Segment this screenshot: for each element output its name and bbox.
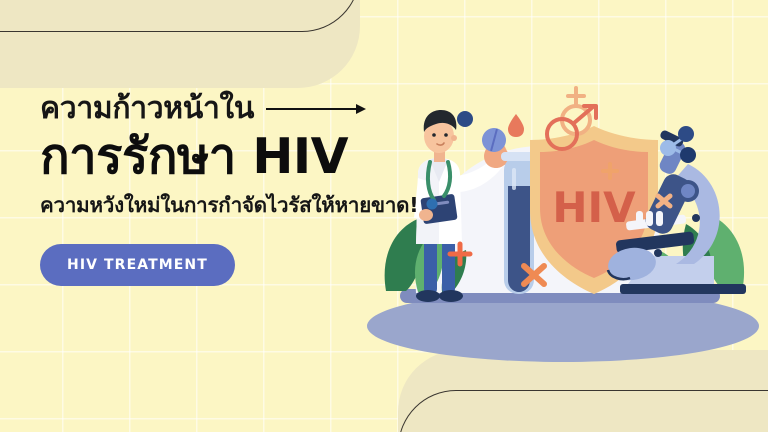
shield-hiv-label: HIV: [552, 183, 636, 232]
hiv-treatment-button[interactable]: HIV TREATMENT: [40, 244, 235, 286]
top-left-corner-outline: [0, 0, 360, 32]
arrow-accent: [266, 101, 372, 117]
eyebrow-text: ความก้าวหน้าใน: [40, 94, 254, 124]
subtitle: ความหวังใหม่ในการกำจัดไวรัสให้หายขาด!: [40, 189, 440, 222]
page-title: การรักษา HIV: [40, 132, 440, 182]
bottom-right-corner-outline: [398, 390, 768, 432]
blood-drop-small: [508, 114, 524, 137]
eyebrow-row: ความก้าวหน้าใน: [40, 88, 440, 130]
hiv-treatment-banner: HIV: [0, 0, 768, 432]
arrow-right-icon: [266, 101, 372, 117]
hero-copy: ความก้าวหน้าใน การรักษา HIV ความหวังใหม่…: [40, 88, 440, 286]
pill-dot-icon: [457, 111, 473, 127]
